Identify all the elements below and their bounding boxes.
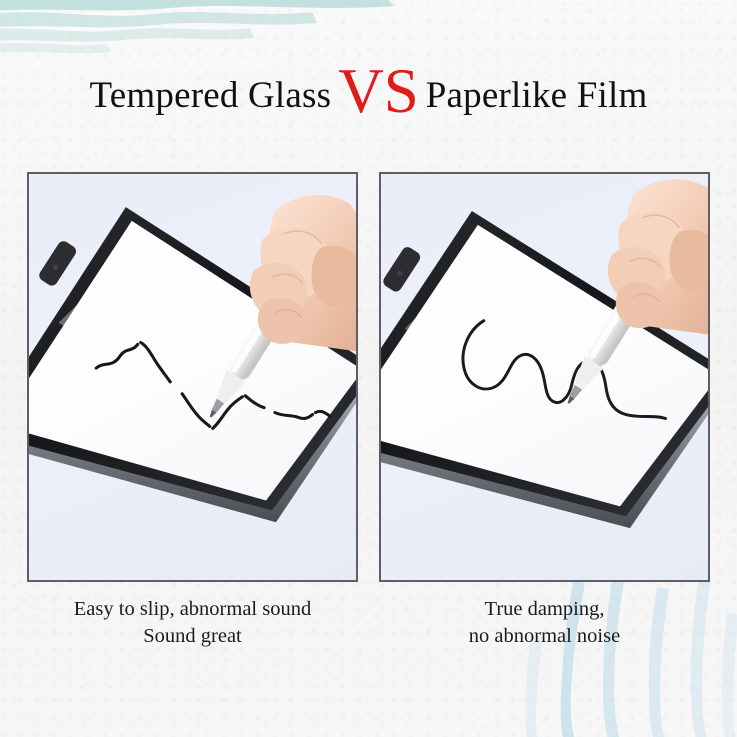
panel-captions: Easy to slip, abnormal sound Sound great… bbox=[27, 596, 710, 651]
product-comparison-poster: Tempered Glass VS Paperlike Film bbox=[0, 0, 737, 737]
caption-line: no abnormal noise bbox=[379, 623, 710, 650]
title-left-text: Tempered Glass bbox=[90, 74, 332, 117]
tablet-photo-left bbox=[29, 174, 356, 580]
caption-tempered-glass: Easy to slip, abnormal sound Sound great bbox=[27, 596, 358, 651]
title-vs-text: VS bbox=[331, 63, 426, 120]
panel-tempered-glass bbox=[27, 172, 358, 582]
poster-title: Tempered Glass VS Paperlike Film bbox=[0, 58, 737, 120]
title-right-text: Paperlike Film bbox=[426, 74, 648, 117]
panel-paperlike-film bbox=[379, 172, 710, 582]
caption-line: Sound great bbox=[27, 623, 358, 650]
comparison-panels bbox=[27, 172, 710, 582]
tablet-photo-right bbox=[381, 174, 708, 580]
caption-line: True damping, bbox=[379, 596, 710, 623]
caption-line: Easy to slip, abnormal sound bbox=[27, 596, 358, 623]
caption-paperlike-film: True damping, no abnormal noise bbox=[379, 596, 710, 651]
